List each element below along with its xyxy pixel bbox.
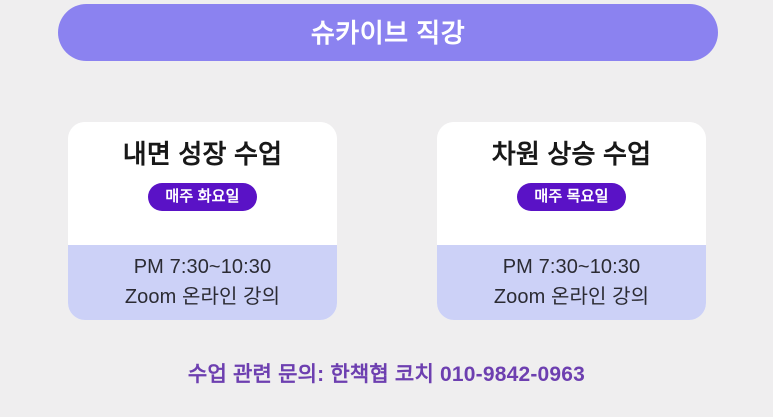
class-platform: Zoom 온라인 강의 [125, 285, 280, 311]
class-card-header: 차원 상승 수업 매주 목요일 [437, 122, 706, 245]
class-card-title: 차원 상승 수업 [492, 140, 652, 170]
contact-text[interactable]: 수업 관련 문의: 한책협 코치 010-9842-0963 [188, 363, 585, 386]
class-card-title: 내면 성장 수업 [123, 140, 283, 170]
class-card-dimension-rise[interactable]: 차원 상승 수업 매주 목요일 PM 7:30~10:30 Zoom 온라인 강… [437, 122, 706, 320]
footer-contact: 수업 관련 문의: 한책협 코치 010-9842-0963 [0, 362, 773, 387]
class-card-details: PM 7:30~10:30 Zoom 온라인 강의 [68, 245, 337, 320]
class-schedule-badge: 매주 목요일 [517, 183, 625, 211]
class-time: PM 7:30~10:30 [134, 255, 272, 281]
class-platform: Zoom 온라인 강의 [494, 285, 649, 311]
class-card-inner-growth[interactable]: 내면 성장 수업 매주 화요일 PM 7:30~10:30 Zoom 온라인 강… [68, 122, 337, 320]
class-time: PM 7:30~10:30 [503, 255, 641, 281]
class-card-details: PM 7:30~10:30 Zoom 온라인 강의 [437, 245, 706, 320]
header-banner: 슈카이브 직강 [58, 4, 718, 61]
class-cards-row: 내면 성장 수업 매주 화요일 PM 7:30~10:30 Zoom 온라인 강… [0, 122, 773, 322]
class-card-header: 내면 성장 수업 매주 화요일 [68, 122, 337, 245]
page-title: 슈카이브 직강 [311, 20, 465, 46]
class-schedule-badge: 매주 화요일 [148, 183, 256, 211]
